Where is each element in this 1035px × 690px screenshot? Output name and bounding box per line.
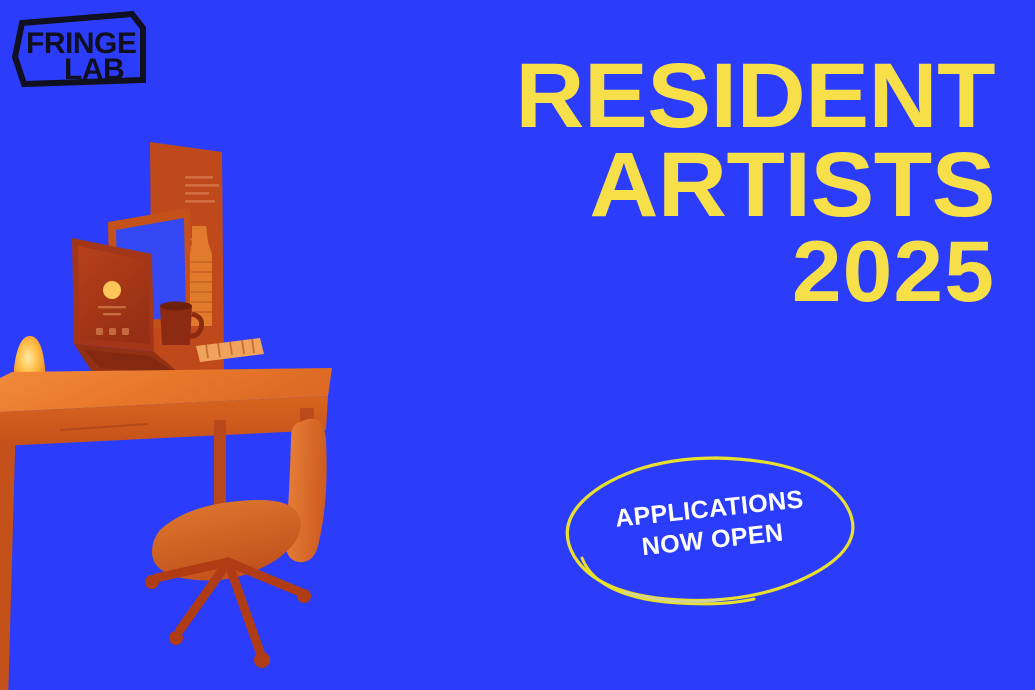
- poster-canvas: FRINGE LAB: [0, 0, 1035, 690]
- headline-line-3: 2025: [309, 233, 995, 312]
- headline-line-2: ARTISTS: [309, 143, 995, 228]
- applications-callout[interactable]: APPLICATIONS NOW OPEN: [566, 452, 856, 607]
- swivel-chair: [145, 419, 327, 668]
- headline-line-1: RESIDENT: [309, 54, 995, 139]
- laptop-screen-icon: [103, 281, 121, 299]
- desk-workspace-photo: [0, 130, 360, 690]
- logo-line-2-text: LAB: [64, 53, 124, 86]
- fringe-lab-logo[interactable]: FRINGE LAB: [12, 10, 148, 88]
- page-title: RESIDENT ARTISTS 2025: [335, 54, 995, 312]
- desk-leg-left: [0, 440, 15, 690]
